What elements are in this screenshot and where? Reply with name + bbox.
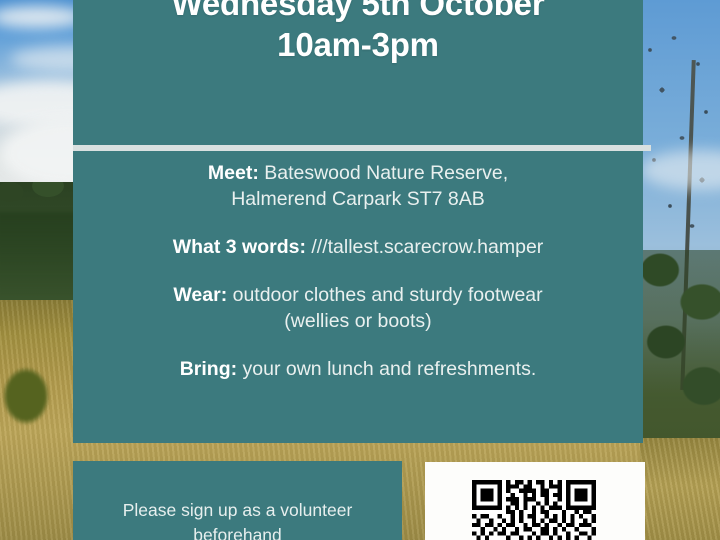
headline-line-3: 10am-3pm: [73, 24, 643, 65]
detail-bring: Bring: your own lunch and refreshments.: [83, 356, 633, 382]
detail-what3words: What 3 words: ///tallest.scarecrow.hampe…: [83, 234, 633, 260]
detail-what3words-value: ///tallest.scarecrow.hamper: [311, 236, 543, 258]
tree-canopy: [636, 20, 720, 250]
detail-meet-value: Bateswood Nature Reserve,: [264, 162, 508, 184]
headline-line-2: Wednesday 5th October: [73, 0, 643, 24]
detail-wear: Wear: outdoor clothes and sturdy footwea…: [83, 282, 633, 334]
detail-meet-label: Meet:: [208, 162, 259, 184]
detail-bring-label: Bring:: [180, 358, 237, 380]
event-poster: Seed sowing Wednesday 5th October 10am-3…: [0, 0, 720, 540]
right-shrubs: [640, 250, 720, 470]
volunteer-line-2: beforehand: [73, 523, 402, 540]
headline-text: Seed sowing Wednesday 5th October 10am-3…: [73, 0, 643, 65]
volunteer-line-1: Please sign up as a volunteer: [73, 498, 402, 523]
detail-meet: Meet: Bateswood Nature Reserve, Halmeren…: [83, 160, 633, 212]
detail-wear-label: Wear:: [173, 284, 227, 306]
detail-meet-value-line2: Halmerend Carpark ST7 8AB: [83, 186, 633, 212]
details-text: Meet: Bateswood Nature Reserve, Halmeren…: [83, 160, 633, 382]
qr-code-icon[interactable]: [472, 480, 596, 540]
bush: [0, 352, 64, 438]
right-grass-field: [640, 438, 720, 540]
detail-what3words-label: What 3 words:: [173, 236, 306, 258]
volunteer-text: Please sign up as a volunteer beforehand: [73, 498, 402, 540]
detail-wear-value-line2: (wellies or boots): [83, 308, 633, 334]
detail-wear-value: outdoor clothes and sturdy footwear: [233, 284, 543, 306]
detail-bring-value: your own lunch and refreshments.: [243, 358, 537, 380]
qr-code-svg: [472, 480, 596, 540]
